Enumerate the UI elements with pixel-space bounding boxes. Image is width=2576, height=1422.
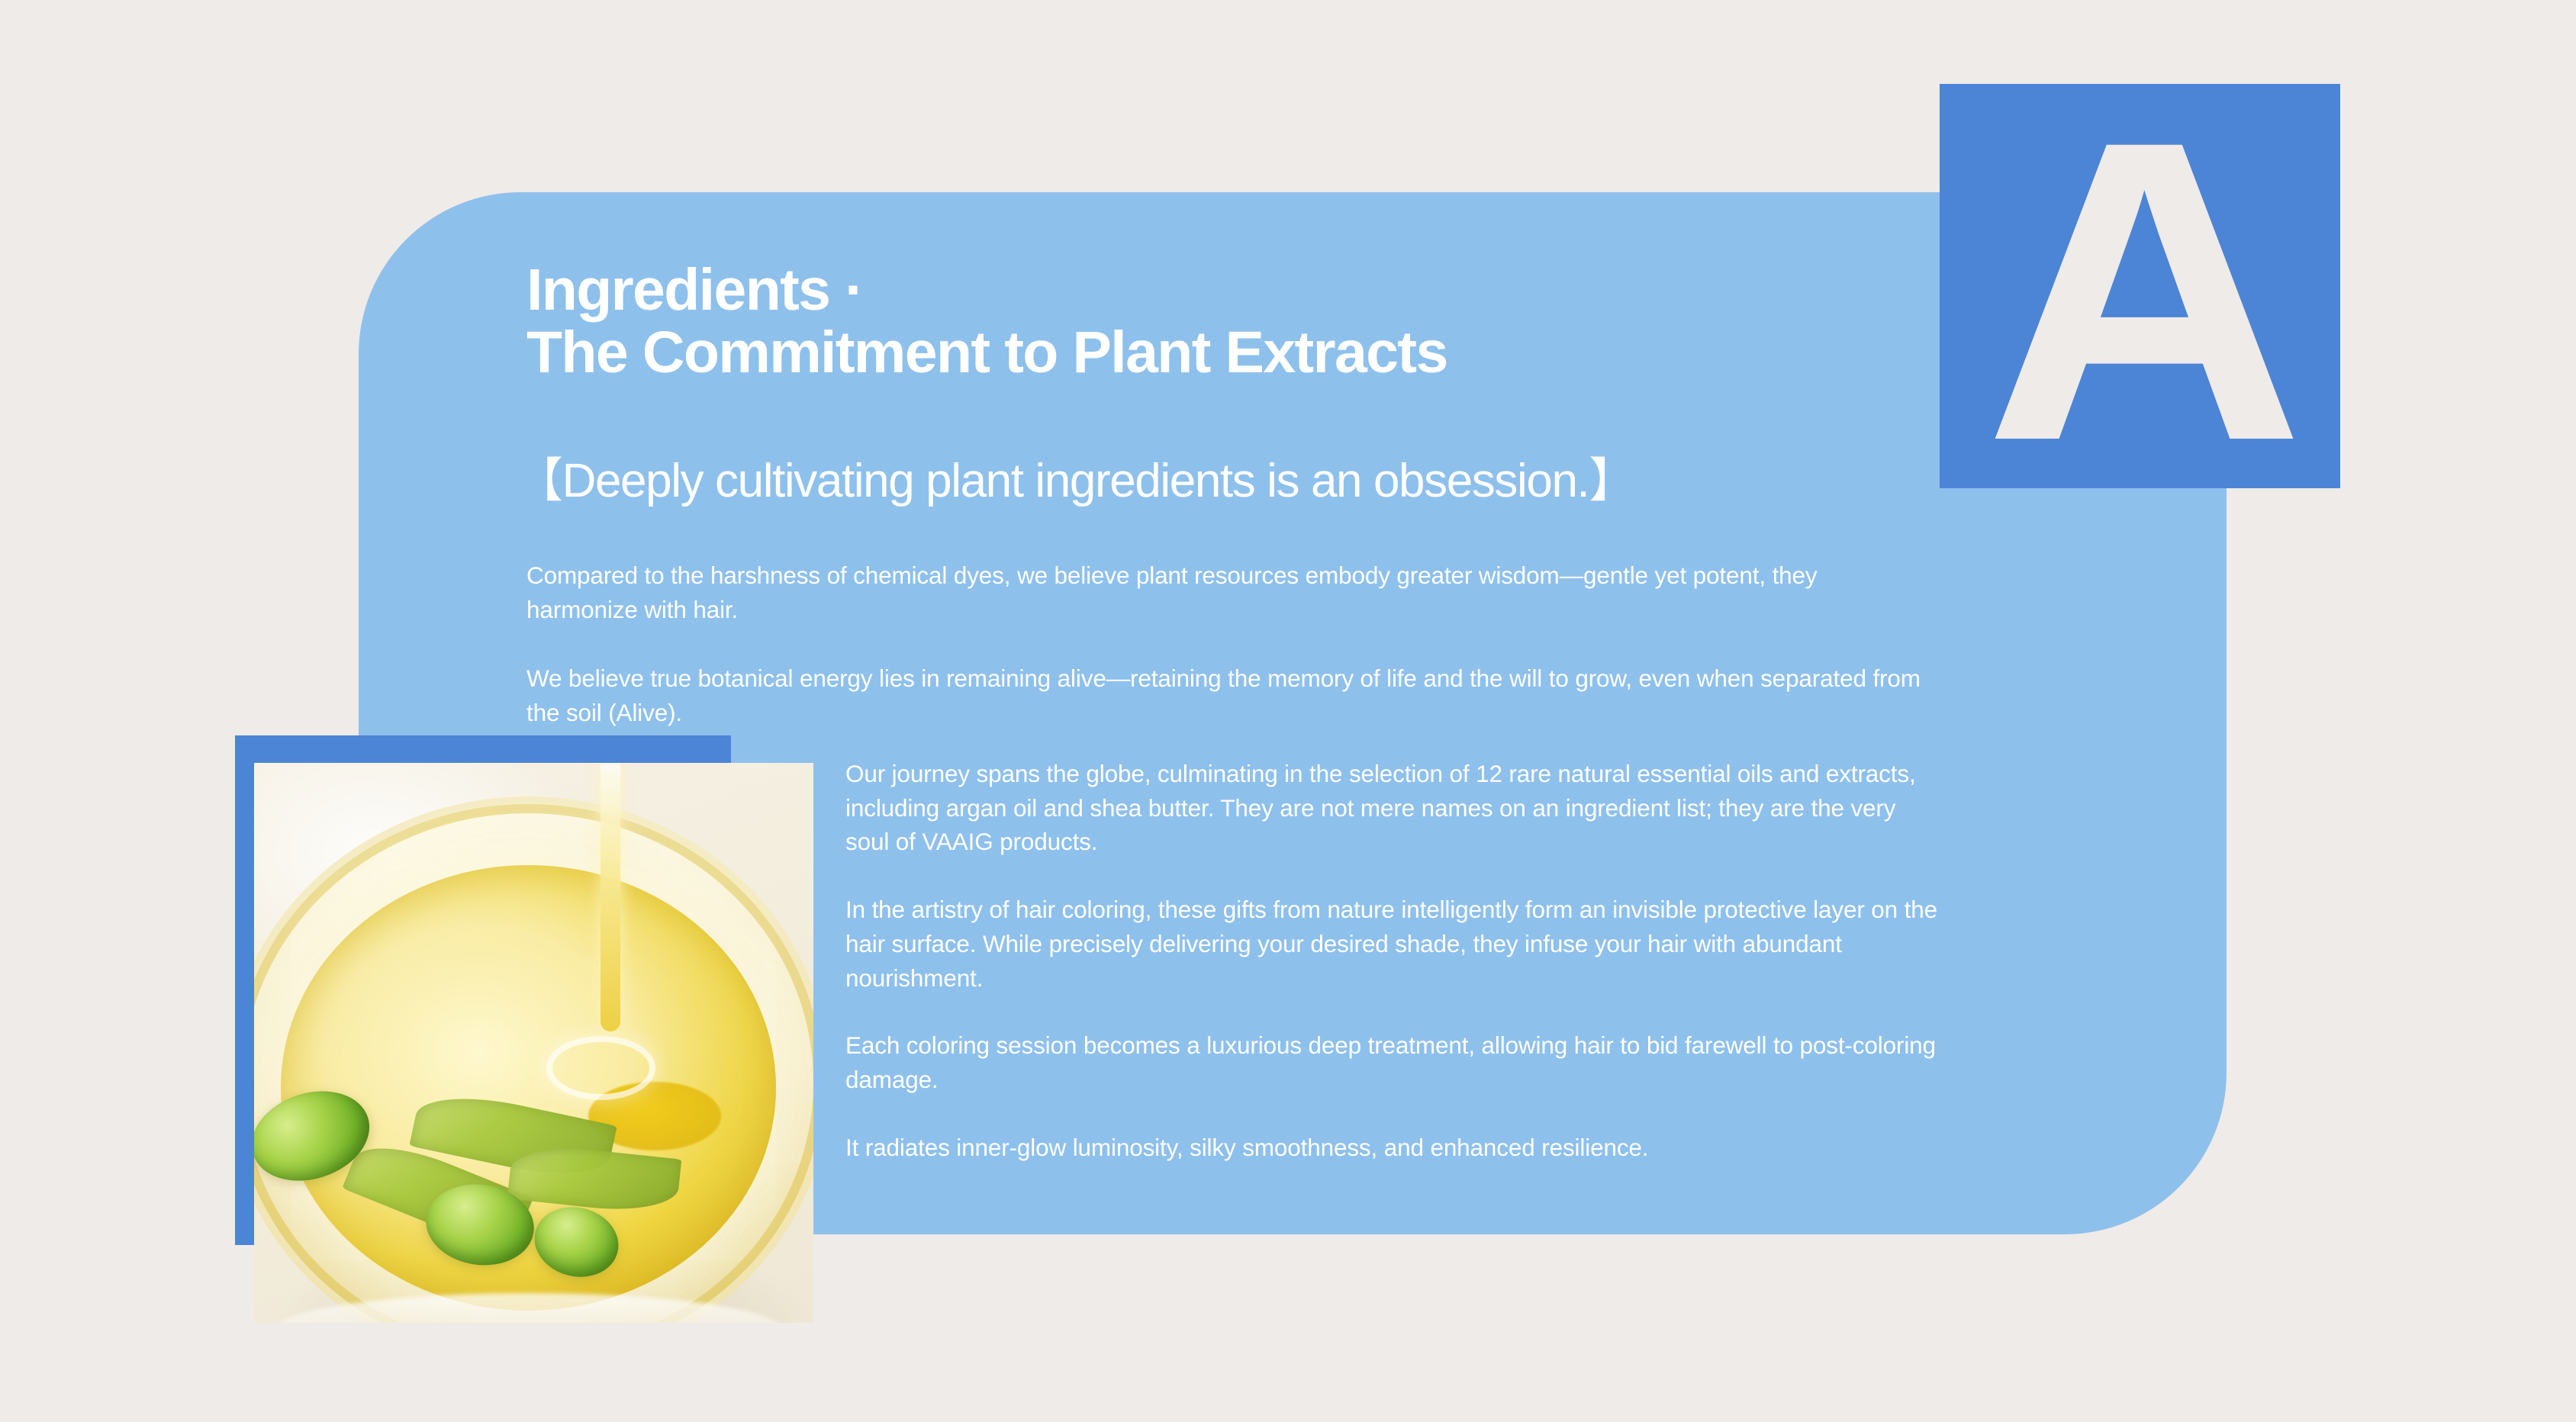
pouring-oil-stream [601, 763, 620, 1031]
paragraph: It radiates inner-glow luminosity, silky… [845, 1131, 1943, 1165]
oil-ripple [546, 1036, 655, 1099]
page-title-line-2: The Commitment to Plant Extracts [526, 322, 1976, 384]
photo-backdrop [254, 763, 813, 1323]
paragraph: Compared to the harshness of chemical dy… [526, 558, 1927, 626]
paragraph: In the artistry of hair coloring, these … [845, 893, 1943, 995]
intro-paragraphs: Compared to the harshness of chemical dy… [526, 558, 1927, 730]
paragraph: Each coloring session becomes a luxuriou… [845, 1028, 1943, 1096]
poster-canvas: A Ingredients · The Commitment to Plant … [0, 0, 2576, 1422]
glass-bowl [254, 796, 813, 1323]
paragraph: Our journey spans the globe, culminating… [845, 757, 1943, 859]
page-subtitle: 【Deeply cultivating plant ingredients is… [516, 455, 1635, 507]
olive-oil-photo [254, 763, 813, 1323]
brand-initial-badge: A [1940, 84, 2340, 488]
paragraph: We believe true botanical energy lies in… [526, 661, 1927, 729]
page-title: Ingredients · The Commitment to Plant Ex… [526, 259, 1976, 384]
page-title-line-1: Ingredients · [526, 259, 1976, 322]
detail-paragraphs: Our journey spans the globe, culminating… [845, 757, 1943, 1164]
brand-initial-letter: A [1984, 124, 2295, 458]
bowl-base [275, 1293, 782, 1323]
